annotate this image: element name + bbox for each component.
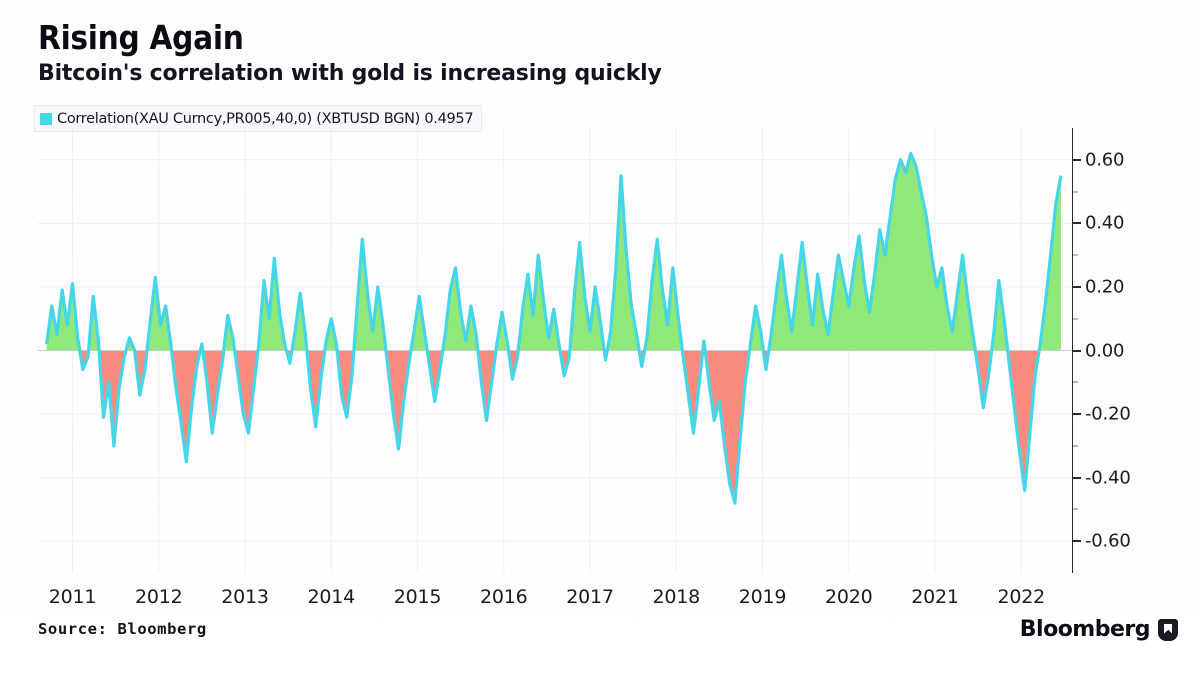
x-tick-label: 2018 bbox=[652, 586, 700, 608]
y-tick-label: 0.40 bbox=[1085, 213, 1124, 234]
x-tick-label: 2012 bbox=[135, 586, 183, 608]
y-tick-minor bbox=[1073, 255, 1078, 256]
x-tick-label: 2022 bbox=[997, 586, 1045, 608]
x-tick-label: 2020 bbox=[825, 586, 873, 608]
x-tick-label: 2021 bbox=[911, 586, 959, 608]
legend-series-label: Correlation(XAU Curncy,PR005,40,0) (XBTU… bbox=[57, 111, 473, 127]
y-tick-label: 0.00 bbox=[1085, 340, 1124, 361]
y-tick-major bbox=[1073, 286, 1081, 288]
chart-subtitle: Bitcoin's correlation with gold is incre… bbox=[38, 61, 938, 86]
y-axis: 0.600.400.200.00-0.20-0.40-0.60 bbox=[1073, 128, 1193, 573]
correlation-area-chart bbox=[38, 128, 1073, 573]
bloomberg-brand: Bloomberg bbox=[1020, 617, 1178, 642]
chart-header: Rising Again Bitcoin's correlation with … bbox=[38, 20, 938, 86]
x-tick-label: 2017 bbox=[566, 586, 614, 608]
x-tick-label: 2014 bbox=[307, 586, 355, 608]
y-tick-major bbox=[1073, 477, 1081, 479]
y-tick-major bbox=[1073, 159, 1081, 161]
x-tick-label: 2016 bbox=[480, 586, 528, 608]
bloomberg-badge-icon bbox=[1158, 619, 1178, 641]
y-tick-label: 0.20 bbox=[1085, 276, 1124, 297]
y-tick-minor bbox=[1073, 382, 1078, 383]
y-tick-label: -0.20 bbox=[1085, 404, 1131, 425]
y-tick-major bbox=[1073, 540, 1081, 542]
y-tick-major bbox=[1073, 350, 1081, 352]
x-tick-label: 2019 bbox=[739, 586, 787, 608]
y-tick-label: -0.60 bbox=[1085, 531, 1131, 552]
chart-plot-area bbox=[38, 128, 1073, 573]
y-tick-minor bbox=[1073, 191, 1078, 192]
brand-name: Bloomberg bbox=[1020, 617, 1150, 642]
y-tick-minor bbox=[1073, 445, 1078, 446]
x-tick-label: 2011 bbox=[49, 586, 97, 608]
source-attribution: Source: Bloomberg bbox=[38, 620, 207, 638]
legend-swatch-icon bbox=[40, 113, 52, 125]
y-tick-minor bbox=[1073, 509, 1078, 510]
y-tick-minor bbox=[1073, 318, 1078, 319]
chart-card: Rising Again Bitcoin's correlation with … bbox=[0, 0, 1200, 684]
y-tick-major bbox=[1073, 222, 1081, 224]
page-title: Rising Again bbox=[38, 20, 938, 57]
y-tick-major bbox=[1073, 413, 1081, 415]
x-tick-label: 2013 bbox=[221, 586, 269, 608]
x-axis: 2011201220132014201520162017201820192020… bbox=[38, 586, 1073, 614]
y-tick-label: -0.40 bbox=[1085, 467, 1131, 488]
y-tick-label: 0.60 bbox=[1085, 149, 1124, 170]
x-tick-label: 2015 bbox=[394, 586, 442, 608]
area-fill-positive bbox=[47, 153, 1061, 503]
